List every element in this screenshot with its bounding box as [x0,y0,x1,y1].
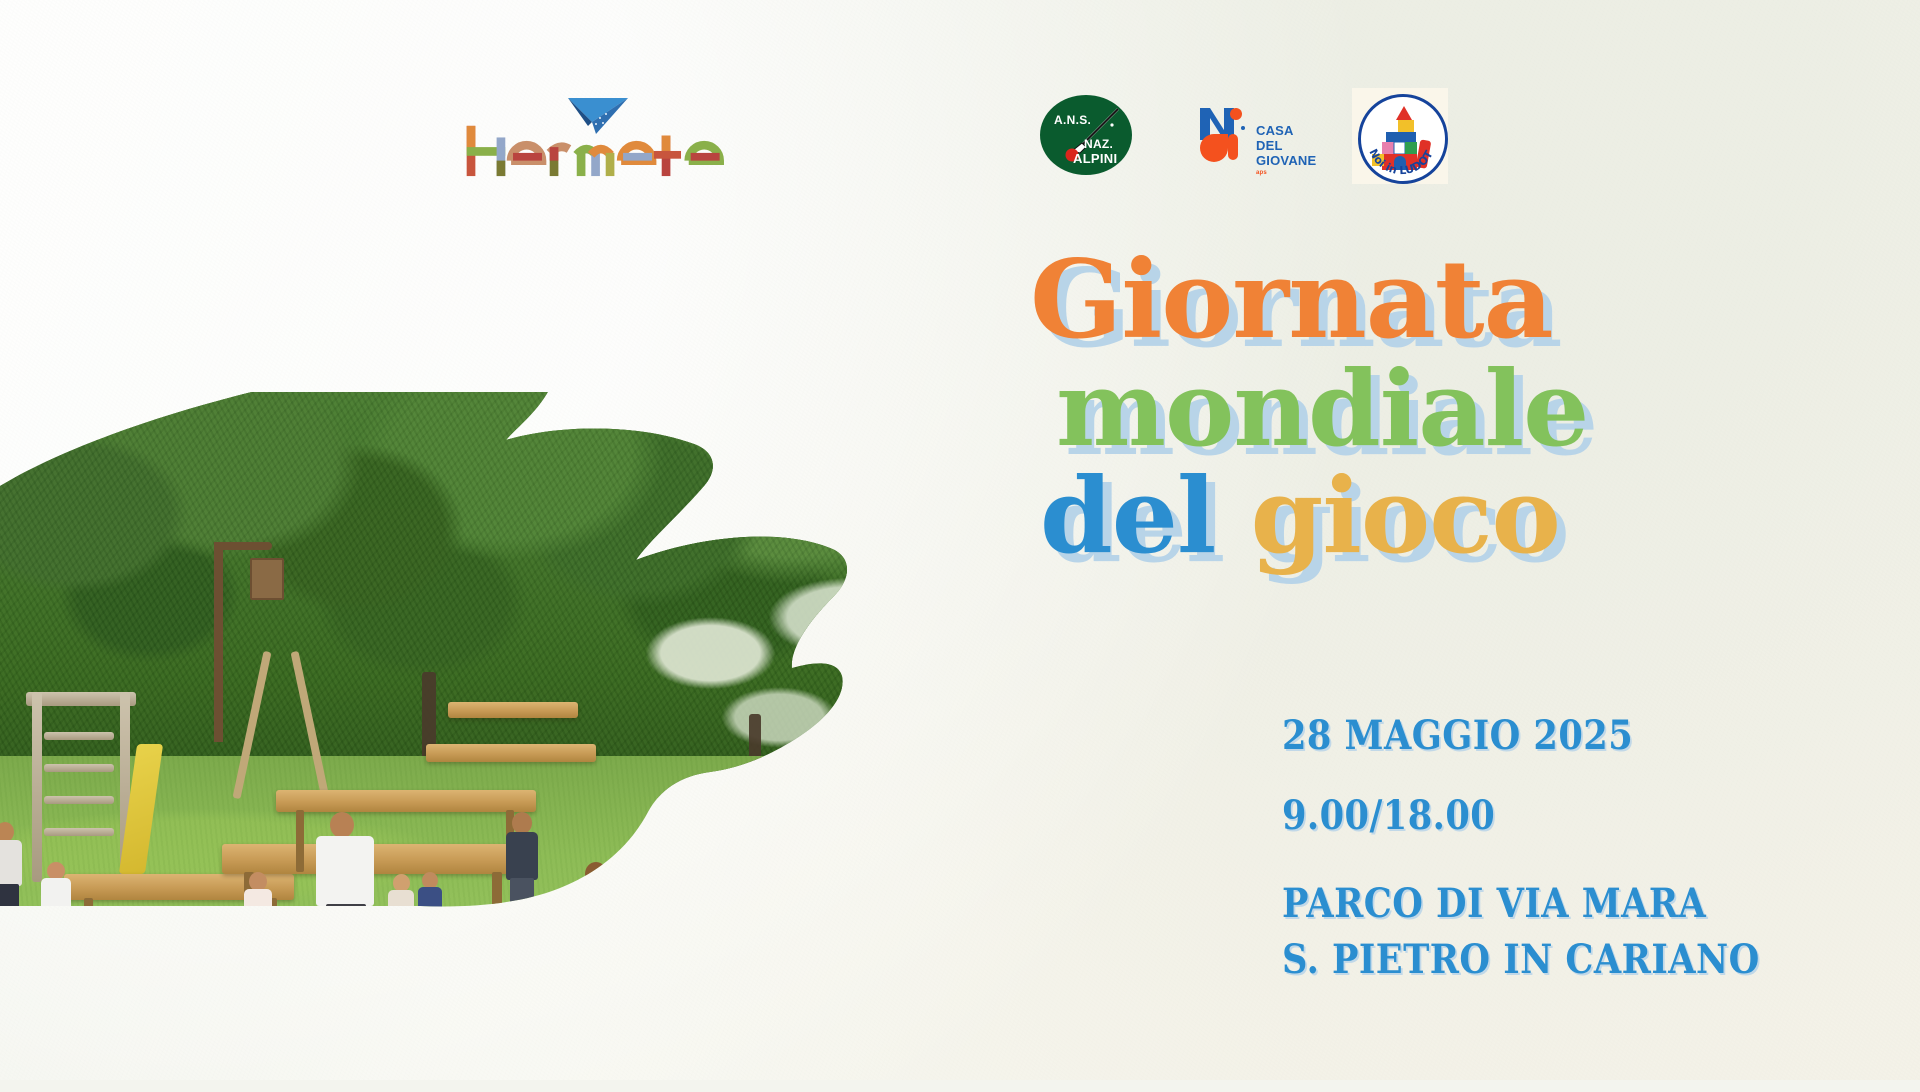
photo-table-leg [268,898,277,976]
photo-target-wheel [650,948,716,1014]
alpini-line-2: NAZ. [1084,137,1113,151]
noi-line-1: CASA DEL [1256,124,1316,154]
photo-table-leg [932,904,941,978]
event-date: 28 MAGGIO 2025 [1282,716,1828,756]
alpini-line-3: ALPINI [1073,151,1117,166]
headline-word-del: del [1040,454,1215,577]
photo-playset-post [32,692,42,882]
photo-lawn [0,756,1076,1092]
hermete-wordmark [460,122,735,178]
alpini-line-1: A.N.S. [1054,113,1091,127]
photo-lantern-pole [214,542,223,742]
photo-easel-board [482,907,578,1033]
event-photo [0,392,1076,1092]
photo-tyre [796,892,858,922]
event-time: 9.00/18.00 [1282,796,1828,836]
event-place-line-2: S. PIETRO IN CARIANO [1282,940,1828,980]
partner-logo-ludoteca[interactable]: Noi in LUDOTECA [1352,88,1448,184]
photo-game-table [448,702,578,718]
photo-blossom-tree [596,546,1054,784]
poster-headline: Giornata mondiale del gioco [1030,248,1670,567]
photo-table-leg [84,898,93,976]
photo-table-body [4,1024,164,1076]
photo-playset-step [44,828,114,836]
noi-line-2: GIOVANE [1256,154,1316,169]
headline-line-2: mondiale [1056,359,1670,460]
building-blocks-icon: Noi in LUDOTECA [1352,88,1448,184]
photo-tree-trunk [749,714,761,884]
photo-table-leg [492,872,502,968]
photo-game-table [426,744,596,762]
partner-logo-noi[interactable]: CASA DEL GIOVANE aps [1196,104,1300,166]
event-place-line-1: PARCO DI VIA MARA [1282,884,1828,924]
noi-mark-icon [1196,104,1256,162]
photo-game-table [916,882,1066,906]
photo-foliage [0,392,1076,798]
photo-game-table-front [0,992,186,1026]
event-details: 28 MAGGIO 2025 9.00/18.00 PARCO DI VIA M… [1282,716,1902,980]
photo-easel-board [561,917,646,1035]
noi-tag: aps [1256,170,1316,177]
photo-content [0,392,1076,1092]
headline-line-3: del gioco [1040,466,1670,567]
photo-playset-step [44,764,114,772]
photo-plastic-chair [676,872,716,922]
photo-table-leg [296,810,304,872]
photo-lantern-arm [214,542,272,550]
photo-lantern [250,558,284,600]
partner-logo-alpini[interactable]: A.N.S. NAZ. ALPINI [1040,95,1132,175]
headline-line-1: Giornata [1030,248,1670,353]
photo-playset-step [44,796,114,804]
photo-playset-step [44,732,114,740]
photo-game-table [276,790,536,812]
photo-target-panel [631,928,736,1067]
headline-word-gioco: gioco [1251,454,1560,577]
hermete-logo[interactable] [460,100,735,180]
